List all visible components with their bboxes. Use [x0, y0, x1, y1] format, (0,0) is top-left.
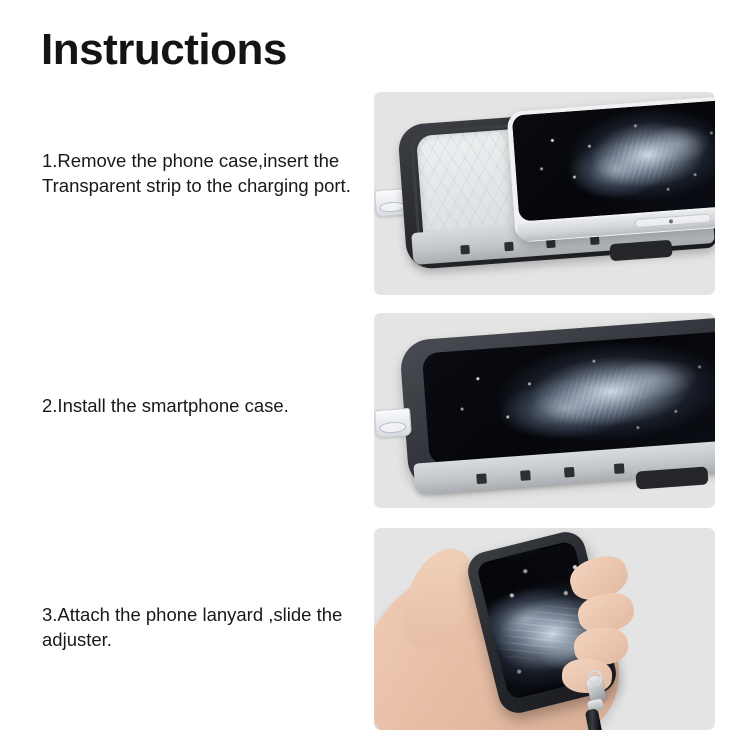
page-title: Instructions: [41, 26, 287, 74]
step-1-image-panel: [374, 92, 715, 295]
case-foot: [609, 240, 672, 261]
phone-device: [506, 96, 715, 243]
case-stud: [460, 245, 470, 255]
instructions-page: Instructions 1.Remove the phone case,ins…: [0, 0, 750, 750]
step-2-image-panel: [374, 313, 715, 508]
case-stud: [476, 473, 487, 484]
phone-screen: [512, 100, 715, 221]
step-3-text: 3.Attach the phone lanyard ,slide the ad…: [42, 602, 360, 652]
transparent-strip: [374, 408, 412, 438]
case-stud: [614, 463, 625, 474]
case-open-illustration: [374, 92, 715, 295]
case-stud: [520, 470, 531, 481]
step-3-image-panel: [374, 528, 715, 730]
case-stud: [564, 467, 575, 478]
hand-holding-phone-illustration: [374, 528, 715, 730]
case-foot: [635, 466, 708, 489]
step-2-text: 2.Install the smartphone case.: [42, 393, 360, 418]
case-installed-illustration: [374, 313, 715, 508]
step-1-text: 1.Remove the phone case,insert the Trans…: [42, 148, 360, 198]
case-stud: [504, 242, 514, 252]
wave-wallpaper: [512, 100, 715, 221]
